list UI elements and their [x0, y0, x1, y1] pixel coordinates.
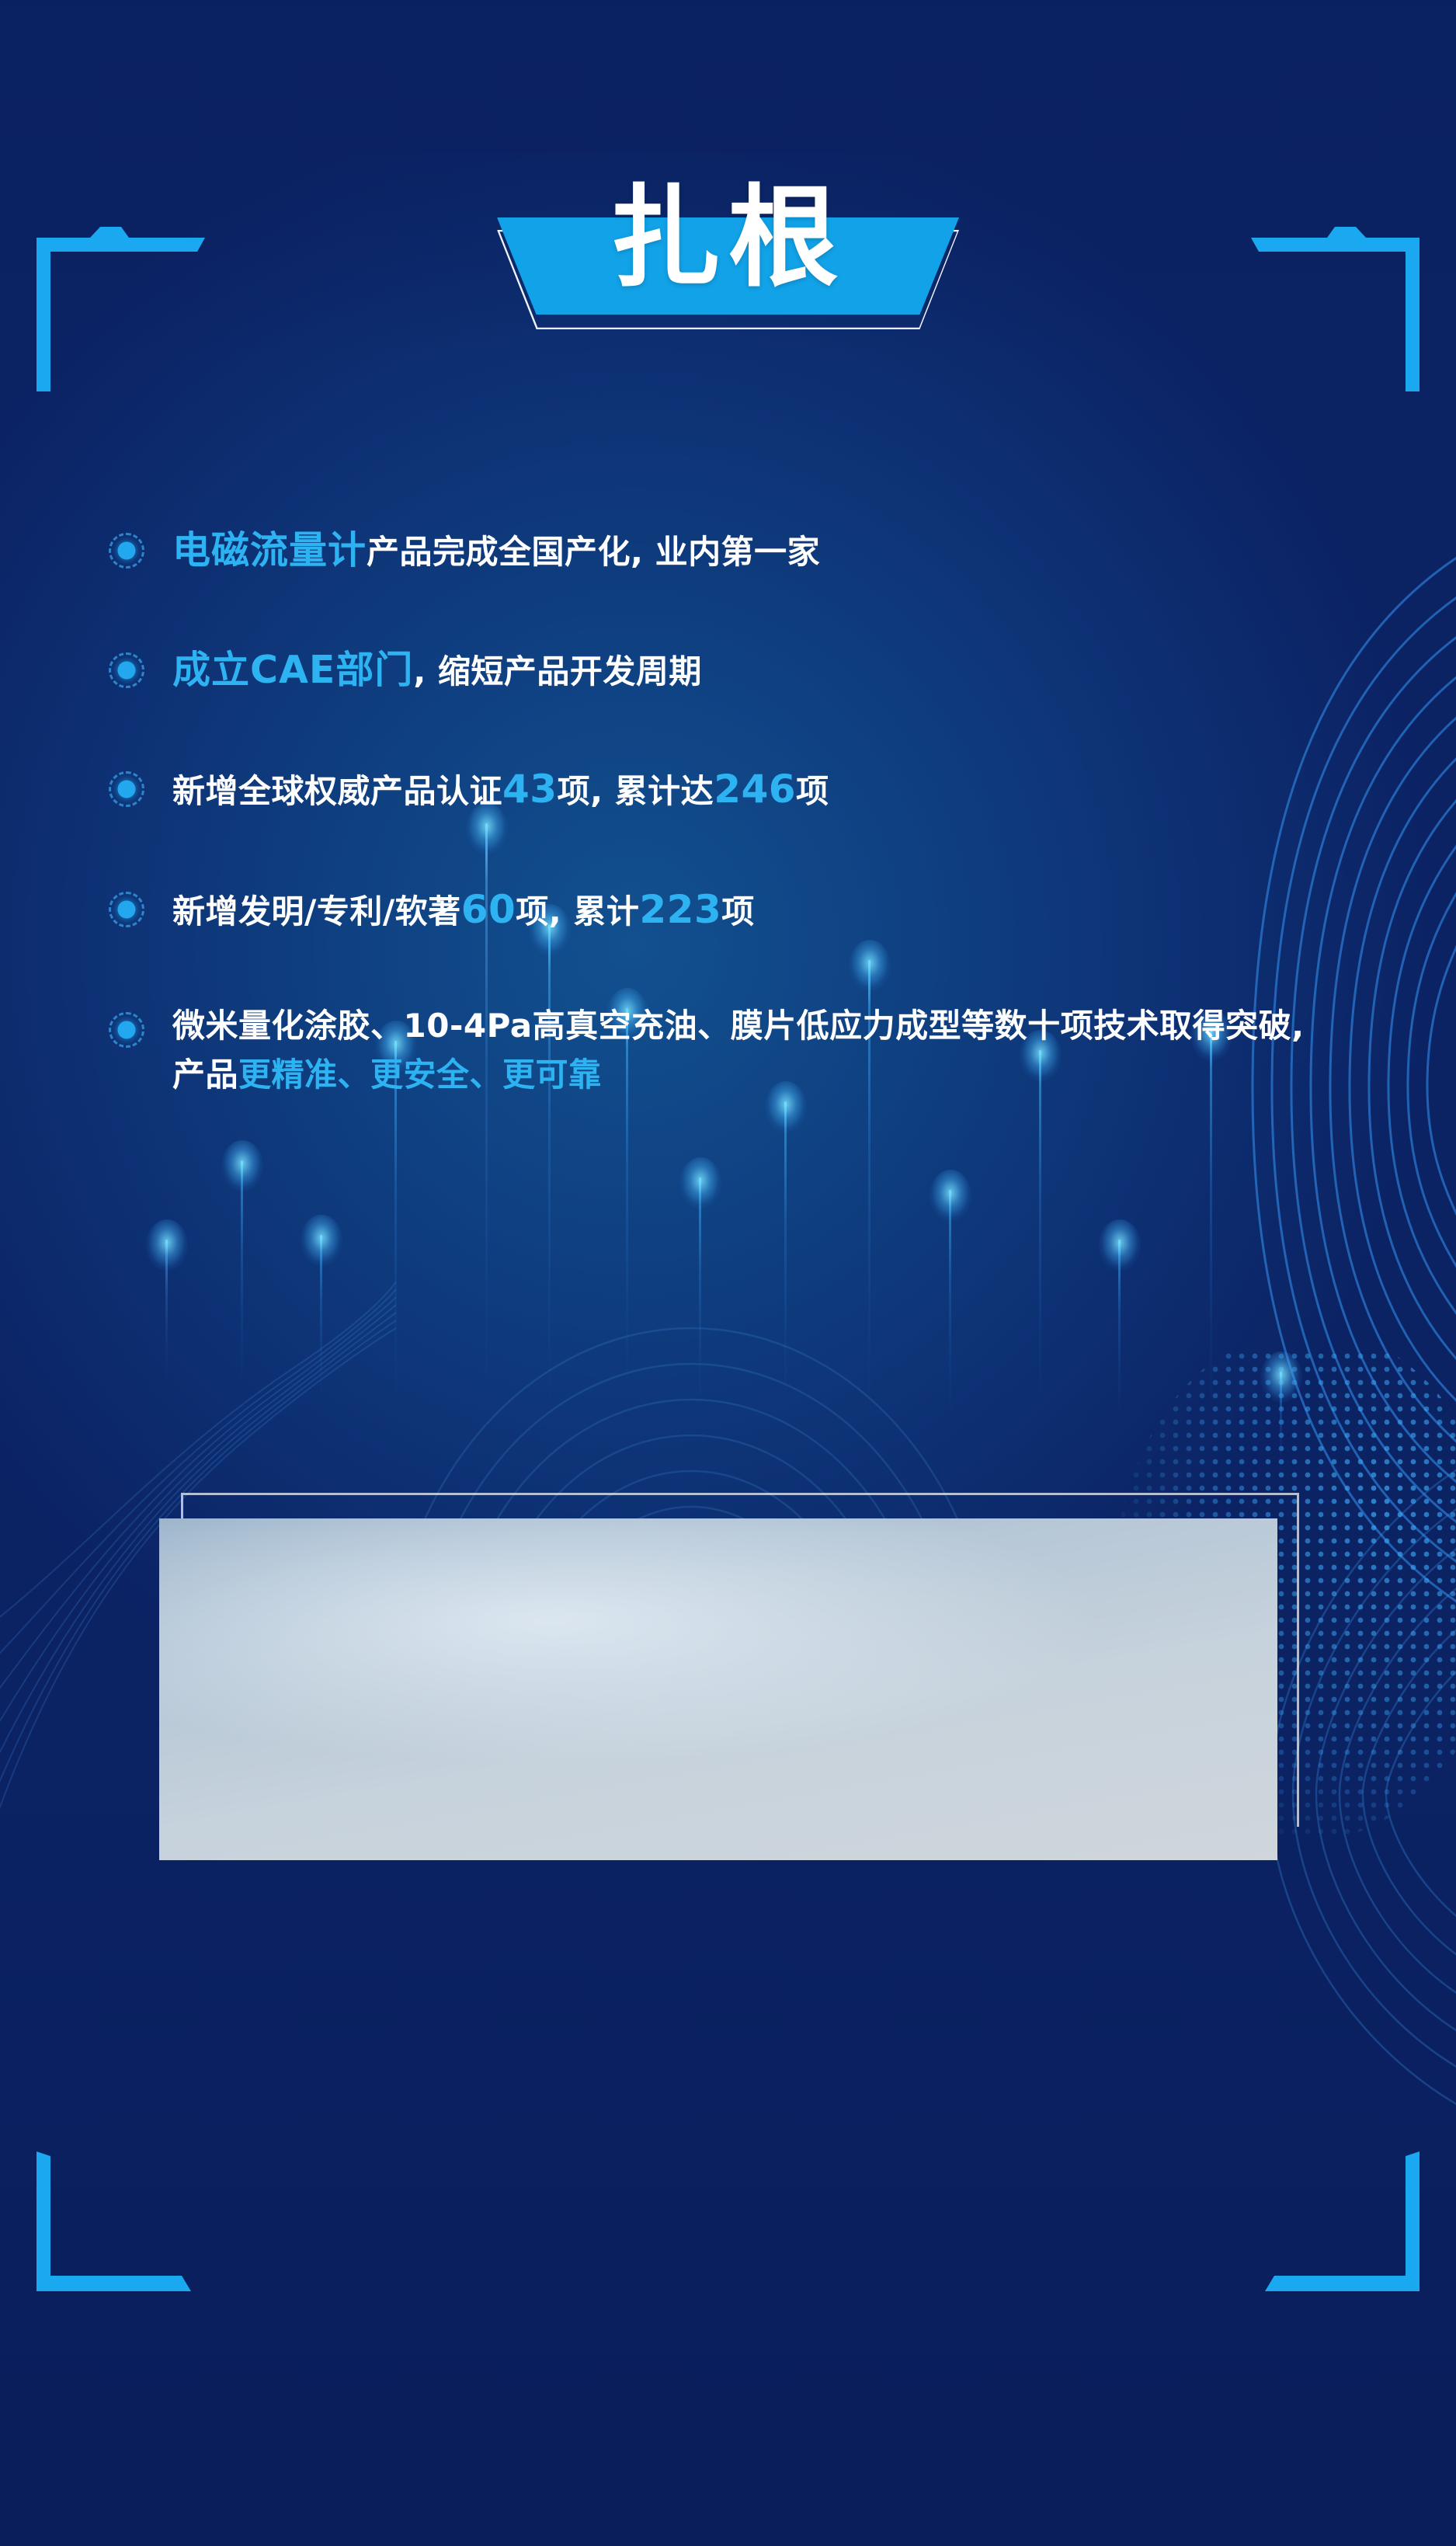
product-lineup-photo: 000 — [159, 1518, 1277, 1860]
bullet-1-part-1: 产品完成全国产化, 业内第一家 — [367, 533, 820, 571]
corner-bracket-bottom-right — [1249, 2151, 1428, 2330]
list-item: 新增发明/专利/软著60项, 累计223项 — [109, 881, 1351, 939]
bullet-5-text: 微米量化涂胶、10-4Pa高真空充油、膜片低应力成型等数十项技术取得突破, 产品… — [172, 1001, 1322, 1099]
list-item: 成立CAE部门, 缩短产品开发周期 — [109, 642, 1351, 699]
bullet-4-part-2: 项, 累计 — [516, 892, 639, 930]
bullet-3-count-new: 43 — [502, 767, 558, 812]
bullet-3-text: 新增全球权威产品认证43项, 累计达246项 — [172, 760, 829, 819]
bullet-3-part-2: 项, 累计达 — [558, 772, 714, 810]
bullet-4-part-0: 新增发明/专利/软著 — [172, 892, 461, 930]
poster-title-block: 扎根 — [0, 155, 1456, 388]
bullet-2-part-0: 成立CAE部门 — [172, 648, 413, 692]
bullet-1-text: 电磁流量计产品完成全国产化, 业内第一家 — [172, 522, 820, 579]
bullet-3-count-total: 246 — [714, 767, 796, 812]
corner-bracket-bottom-left — [28, 2151, 207, 2330]
bullet-marker-icon — [109, 1012, 144, 1048]
bullet-1-part-0: 电磁流量计 — [172, 528, 367, 572]
bullet-marker-icon — [109, 533, 144, 569]
achievement-list: 电磁流量计产品完成全国产化, 业内第一家 成立CAE部门, 缩短产品开发周期 新… — [109, 522, 1351, 1099]
bullet-marker-icon — [109, 771, 144, 807]
bullet-4-count-total: 223 — [639, 887, 721, 932]
bullet-2-text: 成立CAE部门, 缩短产品开发周期 — [172, 642, 702, 699]
list-item: 新增全球权威产品认证43项, 累计达246项 — [109, 760, 1351, 819]
page-title: 扎根 — [0, 183, 1456, 294]
bullet-3-part-4: 项 — [796, 772, 829, 810]
bullet-marker-icon — [109, 652, 144, 688]
list-item: 电磁流量计产品完成全国产化, 业内第一家 — [109, 522, 1351, 579]
poster-root: 扎根 电磁流量计产品完成全国产化, 业内第一家 成立CAE部门, 缩短产品开发周… — [0, 0, 1456, 2546]
bullet-3-part-0: 新增全球权威产品认证 — [172, 772, 502, 810]
bullet-5-highlight: 更精准、更安全、更可靠 — [238, 1056, 602, 1094]
bullet-marker-icon — [109, 892, 144, 927]
bullet-4-part-4: 项 — [721, 892, 755, 930]
bullet-4-text: 新增发明/专利/软著60项, 累计223项 — [172, 881, 755, 939]
bullet-4-count-new: 60 — [461, 887, 516, 932]
list-item: 微米量化涂胶、10-4Pa高真空充油、膜片低应力成型等数十项技术取得突破, 产品… — [109, 1001, 1351, 1099]
bullet-2-part-1: , 缩短产品开发周期 — [413, 652, 702, 690]
